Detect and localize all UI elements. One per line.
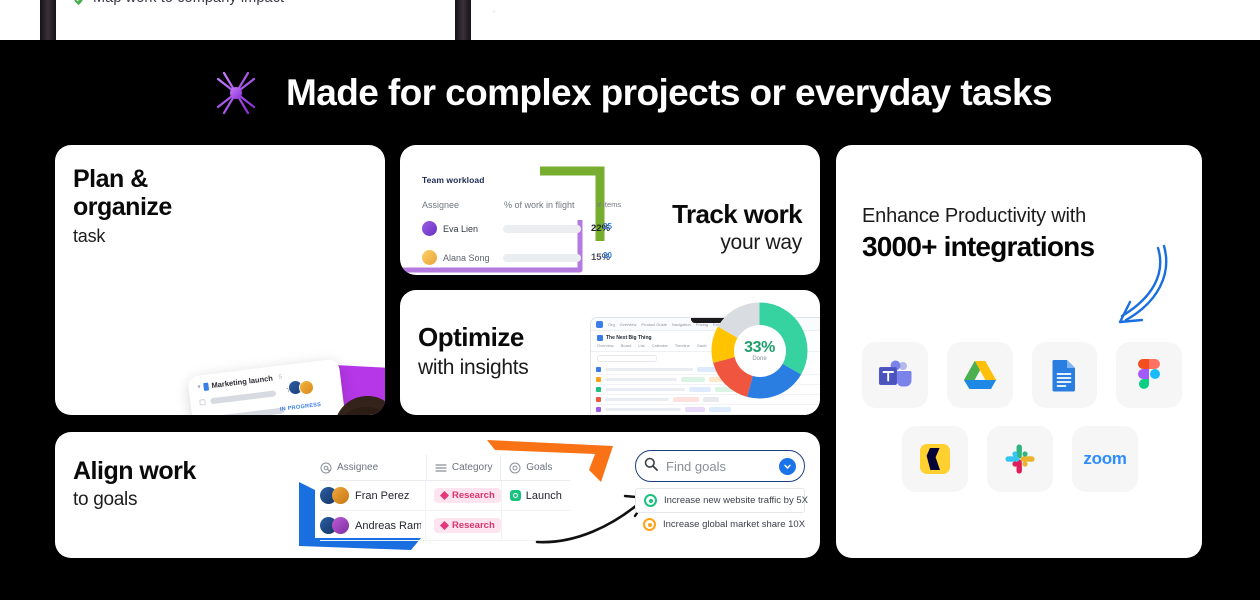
category-label: Research bbox=[452, 490, 495, 501]
table-row[interactable]: Fran Perez Research Launch bbox=[320, 481, 570, 511]
top-left-pane bbox=[56, 0, 455, 40]
header-label: Category bbox=[452, 462, 493, 473]
top-ghost-text-2: • bbox=[492, 6, 496, 18]
mock-task-row bbox=[199, 390, 276, 405]
category-label: Research bbox=[452, 520, 495, 531]
donut-center: 33% Done bbox=[734, 325, 786, 377]
person-photo bbox=[291, 371, 385, 415]
card-align-work[interactable]: Align work to goals Assignee Category bbox=[55, 432, 820, 558]
zoom-icon[interactable]: zoom bbox=[1072, 426, 1138, 492]
optimize-title: Optimize bbox=[418, 322, 528, 353]
donut-chart: 33% Done bbox=[707, 298, 812, 403]
google-drive-icon[interactable] bbox=[947, 342, 1013, 408]
panel-title: Team workload bbox=[422, 175, 652, 185]
align-subtitle: to goals bbox=[73, 489, 196, 511]
suggestion-item[interactable]: Increase global market share 10X bbox=[635, 513, 805, 536]
workload-column-headers: Assignee % of work in flight bbox=[422, 200, 672, 210]
blue-curved-arrow-icon bbox=[1096, 240, 1176, 330]
mock-task-row bbox=[201, 407, 284, 415]
find-goals-widget: Find goals Increase new website traffic … bbox=[635, 450, 805, 536]
list-icon bbox=[435, 462, 447, 474]
plan-title-line2: organize bbox=[73, 193, 172, 221]
chevron-down-icon[interactable] bbox=[779, 458, 796, 475]
plan-title-line1: Plan & bbox=[73, 165, 172, 193]
plan-heading: Plan & organize task bbox=[73, 165, 172, 247]
chevron-down-icon: ▾ bbox=[197, 383, 201, 390]
table-row[interactable]: Andreas Ram Research bbox=[320, 511, 570, 541]
app-brand: Org bbox=[608, 322, 615, 327]
optimize-subtitle: with insights bbox=[418, 356, 528, 380]
mock-list-title: Marketing launch bbox=[211, 374, 273, 390]
google-docs-icon[interactable] bbox=[1032, 342, 1098, 408]
microsoft-teams-icon[interactable] bbox=[862, 342, 928, 408]
checklist-item-label: Map work to company impact bbox=[93, 0, 284, 6]
view-tab[interactable]: Timeline bbox=[675, 343, 690, 348]
col-items: # items bbox=[597, 200, 621, 209]
checklist-item: Map work to company impact bbox=[72, 0, 284, 6]
header-label: Goals bbox=[526, 462, 552, 473]
integrations-line2: 3000+ integrations bbox=[862, 231, 1094, 263]
assignee-name: Andreas Ram bbox=[355, 520, 421, 532]
target-icon bbox=[509, 462, 521, 474]
header-category[interactable]: Category bbox=[426, 455, 500, 481]
mock-list-header: ▾ Marketing launch 5 bbox=[197, 372, 283, 391]
device-frame-left bbox=[40, 0, 56, 40]
device-frame-right bbox=[455, 0, 471, 40]
goal-suggestions-dropdown: Increase new website traffic by 5X bbox=[635, 488, 805, 513]
track-title: Track work bbox=[672, 199, 802, 230]
card-integrations[interactable]: Enhance Productivity with 3000+ integrat… bbox=[836, 145, 1202, 558]
cell-category: Research bbox=[425, 511, 501, 541]
integration-icon-grid: zoom bbox=[862, 342, 1182, 510]
suggestion-label: Increase new website traffic by 5X bbox=[664, 495, 808, 506]
board-title: The Next Big Thing bbox=[606, 335, 652, 341]
assignee-name: Alana Song bbox=[443, 253, 503, 263]
col-percent: % of work in flight bbox=[504, 200, 644, 210]
app-tab[interactable]: Navigation bbox=[672, 322, 691, 327]
diamond-icon bbox=[440, 521, 449, 530]
app-tab[interactable]: Overview bbox=[620, 322, 637, 327]
category-chip: Research bbox=[434, 488, 501, 503]
app-row bbox=[596, 405, 820, 415]
card-track-work[interactable]: Team workload Assignee % of work in flig… bbox=[400, 145, 820, 275]
top-cutoff-strip: ••••••• • Map work to company impact bbox=[0, 0, 1260, 40]
avatar bbox=[422, 221, 437, 236]
workload-row: Alana Song 15% bbox=[422, 250, 610, 265]
view-tab[interactable]: Board bbox=[621, 343, 632, 348]
assignee-name: Eva Lien bbox=[443, 224, 503, 234]
progress-track bbox=[503, 225, 581, 233]
top-ghost-text: ••••••• bbox=[500, 0, 537, 3]
team-workload-panel: Team workload bbox=[422, 175, 652, 185]
progress-track bbox=[503, 254, 581, 262]
top-right-pane bbox=[471, 0, 1260, 40]
col-assignee: Assignee bbox=[422, 200, 504, 210]
cell-category: Research bbox=[425, 481, 501, 511]
cell-assignee: Fran Perez bbox=[320, 487, 425, 504]
assignee-name: Fran Perez bbox=[355, 490, 421, 502]
mock-list-count: 5 bbox=[278, 374, 282, 380]
cell-assignee: Andreas Ram bbox=[320, 517, 425, 534]
view-tab[interactable]: Calendar bbox=[652, 343, 668, 348]
page-title: Made for complex projects or everyday ta… bbox=[286, 72, 1052, 114]
figma-icon[interactable] bbox=[1116, 342, 1182, 408]
header-goals[interactable]: Goals bbox=[500, 455, 570, 481]
view-tab[interactable]: List bbox=[638, 343, 644, 348]
align-title: Align work bbox=[73, 457, 196, 486]
donut-percent: 33% bbox=[744, 339, 775, 357]
zoom-wordmark: zoom bbox=[1083, 449, 1126, 469]
at-icon bbox=[320, 462, 332, 474]
goal-target-icon bbox=[510, 490, 521, 501]
avatar bbox=[332, 487, 349, 504]
suggestion-label: Increase global market share 10X bbox=[663, 519, 805, 530]
goal-target-icon bbox=[643, 518, 656, 531]
board-icon bbox=[597, 335, 603, 341]
diamond-icon bbox=[440, 491, 449, 500]
track-heading: Track work your way bbox=[672, 199, 802, 255]
items-count: 25 bbox=[603, 222, 612, 231]
donut-label: Done bbox=[752, 356, 766, 362]
goal-target-icon bbox=[644, 494, 657, 507]
placeholder-bar bbox=[210, 390, 276, 404]
avatar bbox=[422, 250, 437, 265]
align-heading: Align work to goals bbox=[73, 457, 196, 511]
page-root: ••••••• • Map work to company impact bbox=[0, 0, 1260, 600]
find-goals-placeholder: Find goals bbox=[666, 459, 771, 474]
align-table: Assignee Category Goals Fran Perez bbox=[320, 455, 570, 541]
table-header-row: Assignee Category Goals bbox=[320, 455, 570, 481]
suggestion-item[interactable]: Increase new website traffic by 5X bbox=[636, 489, 804, 512]
workload-row: Eva Lien 22% bbox=[422, 221, 610, 236]
plan-subtitle: task bbox=[73, 226, 172, 247]
find-goals-input[interactable]: Find goals bbox=[635, 450, 805, 482]
list-color-marker bbox=[203, 382, 209, 391]
integration-row-1 bbox=[862, 342, 1182, 408]
track-subtitle: your way bbox=[672, 231, 802, 255]
purple-sparkle-icon bbox=[208, 65, 264, 121]
placeholder-bar bbox=[212, 407, 284, 415]
miro-icon[interactable] bbox=[902, 426, 968, 492]
green-check-icon bbox=[72, 0, 85, 5]
slack-icon[interactable] bbox=[987, 426, 1053, 492]
app-logo-icon bbox=[596, 321, 603, 328]
integration-row-2: zoom bbox=[862, 426, 1182, 492]
view-tab[interactable]: Overview bbox=[597, 343, 614, 348]
checkbox-icon bbox=[199, 399, 206, 406]
card-optimize[interactable]: Optimize with insights Org Overview Prod… bbox=[400, 290, 820, 415]
view-tab[interactable]: Gantt bbox=[697, 343, 707, 348]
header-assignee[interactable]: Assignee bbox=[320, 462, 426, 474]
card-plan-organize[interactable]: Plan & organize task ▾ Marketing launch … bbox=[55, 145, 385, 415]
search-icon bbox=[644, 457, 658, 476]
category-chip: Research bbox=[434, 518, 501, 533]
app-tab[interactable]: Product Guide bbox=[641, 322, 667, 327]
header-label: Assignee bbox=[337, 462, 378, 473]
app-search-input[interactable] bbox=[597, 355, 657, 362]
avatar bbox=[332, 517, 349, 534]
section-heading: Made for complex projects or everyday ta… bbox=[0, 58, 1260, 128]
optimize-heading: Optimize with insights bbox=[418, 322, 528, 380]
integrations-line1: Enhance Productivity with bbox=[862, 205, 1086, 228]
